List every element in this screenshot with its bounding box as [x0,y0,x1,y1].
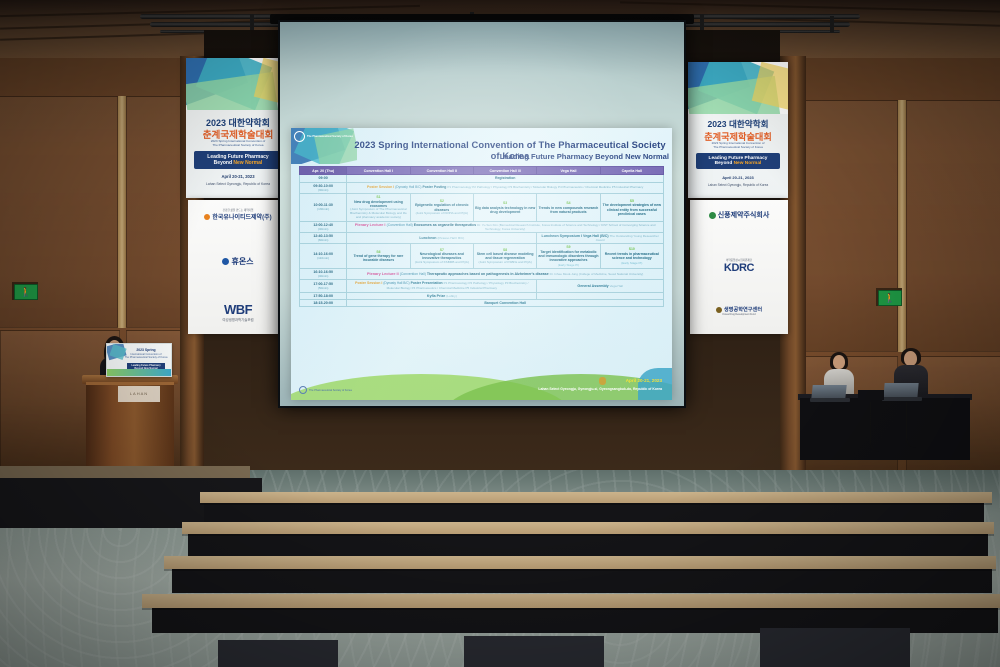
sponsor-item: 의약품임상시험지원재단 KDRC [690,258,788,274]
operator-head [833,355,845,369]
col-header-capella: Capella Hall [600,167,663,175]
row-content-general-assembly: General Assembly Vega Hall [537,280,664,293]
sponsor-item: 생명공학연구센터 Korea Drug Development Fund [690,306,788,316]
poster-hall: (Dynasty Hall B/C) [395,185,421,189]
session-cell: S10 Recent trends in pharmaceutical scie… [600,244,663,269]
table-header-row: Apr. 20 (Thu) Convention Hall I Conventi… [300,167,664,175]
row-content-luncheon-symposium: Luncheon Symposium I Vega Hall (B/C) The… [537,232,664,243]
running-man-icon: 🚶 [20,288,31,297]
society-logo-text: The Pharmaceutical Society of Korea [309,389,352,392]
luncheon-title: Luncheon [419,236,436,240]
session-tag: S5 [602,199,662,203]
session-tag: S9 [538,245,598,249]
col-header-hall-1: Convention Hall I [347,167,410,175]
riser-tier-3 [164,556,996,569]
poster-posting-label: Poster Posting [422,185,446,189]
session-title: Trends in new compounds research from na… [538,206,598,214]
sponsor-tagline: 여성생명과학기술포럼 [188,317,288,322]
banner-graphic-header [186,58,290,110]
plenary-head: Plenary Lecture I (Convention Hall) [355,223,413,227]
row-content-banquet: Banquet Convention Hall [347,300,664,307]
wall-panel [126,96,182,328]
time-value: 09:00 [301,176,345,180]
podium-plate-text: LAHAN [118,391,160,396]
society-logo-text: The Pharmaceutical Society of Korea [307,135,353,138]
laptop-screen [811,385,846,399]
time-duration: (60min) [301,238,345,242]
sponsor-item: WBF 여성생명과학기술포럼 [188,302,288,322]
col-header-hall-3: Convention Hall III [473,167,536,175]
session-cell: S9 Target identification for metabolic a… [537,244,600,269]
sponsor-name: 한국유나이티드제약(주) [188,212,288,221]
session-tag: S8 [475,248,535,252]
row-content-prize: Kyfla Prize (Lobby) [347,292,537,299]
riser-tier-1 [200,492,992,503]
sponsor-item: 건강한 삶을 만드는 제약기업 한국유나이티드제약(주) [188,208,288,221]
session-title: Target identification for metabolic and … [538,250,598,262]
session-note: (Joint Symposium of The Pharmaceutical B… [348,208,408,219]
riser-structure [188,532,988,556]
session-cell: S6 Trend of gene therapy for rare incura… [347,244,410,269]
row-content-luncheon: Luncheon (Picasso Hall I B/C) [347,232,537,243]
sponsor-name: KDRC [690,262,788,274]
slide-society-logo: The Pharmaceutical Society of Korea [294,131,353,142]
cable [870,402,889,452]
session-tag: S1 [348,195,408,199]
banner-place: Lahan Select Gyeongju, Republic of Korea [688,183,788,187]
row-content-plenary-2: Plenary Lecture II (Convention Hall) The… [347,268,664,279]
exit-sign-left: 🚶 [14,284,38,300]
session-stage-note: (Early Stage PI) [602,261,662,265]
banner-date: April 20-21, 2023 [688,175,788,180]
time-duration: (30min) [301,188,345,192]
society-emblem-icon [299,386,307,394]
operator-head [904,351,917,366]
poster-hall: (Dynasty Hall B/C) [383,281,409,285]
banner-tagline: Leading Future Pharmacy Beyond New Norma… [194,151,281,169]
session-cell: S8 Stem cell based disease modeling and … [473,244,536,269]
riser-tier-2 [182,522,994,534]
row-time: 17:50-18:00 [300,292,347,299]
sponsor-name: WBF [188,302,288,317]
row-time: 10:00-11:30 (130min) [300,194,347,222]
session-note: (Joint Symposium of KSBMB and PQA) [412,261,472,265]
banner-tagline: Leading Future Pharmacy Beyond New Norma… [696,153,780,169]
tagline-pre: Beyond [214,160,234,166]
session-tag: S3 [475,201,535,205]
row-time: 17:00-17:50 (50min) [300,280,347,293]
cable [906,402,921,448]
session-note: (Joint Symposium of KSBNs and PQA) [475,261,535,265]
sponsor-name: 생명공학연구센터 [690,306,788,313]
slide-footer-wave [291,366,672,400]
table-row: 10:00-11:30 (130min) S1 New drug develop… [300,194,664,222]
session-title: Big data analysis technology in new drug… [475,206,535,214]
plenary-title: Exosomes as organelle therapeutics [414,223,476,227]
plenary-hall: (Convention Hall) [387,223,413,227]
col-header-vega: Vega Hall [537,167,600,175]
monitor-screen [858,390,884,400]
wall-panel [906,100,1000,352]
podium-sign-line-2: International Convention ofThe Pharmaceu… [123,353,169,359]
program-schedule-table: Apr. 20 (Thu) Convention Hall I Conventi… [299,166,664,307]
tagline-line-2: Beyond New Normal [696,161,780,166]
banquet-label: Banquet Convention Hall [484,301,526,305]
table-row: 17:00-17:50 (50min) Poster Session I (Dy… [300,280,664,293]
sponsor-board-right: 신풍제약주식회사 의약품임상시험지원재단 KDRC 생명공학연구센터 Korea… [690,200,788,334]
session-note: (Joint Symposium of KRPIA and PQA) [412,212,472,216]
time-duration: (110min) [301,256,345,260]
podium-sign: 2023 Spring International Convention ofT… [106,343,172,377]
row-time: 18:15-20:00 [300,300,347,307]
session-tag: S10 [602,247,662,251]
general-assembly-title: General Assembly [577,284,608,288]
sponsor-mark-icon [222,258,229,265]
session-tag: S6 [348,250,408,254]
sponsor-mark-icon [716,307,722,313]
row-time: 09:00 [300,175,347,182]
row-time: 12:00-12:40 (40min) [300,221,347,232]
row-time: 09:30-10:00 (30min) [300,182,347,193]
podium-nameplate: LAHAN [118,386,160,402]
prize-location: (Lobby) [446,294,457,298]
banner-graphic-header [688,62,788,114]
table-row: 17:50-18:00 Kyfla Prize (Lobby) [300,292,664,299]
session-cell: S7 Neurological diseases and innovative … [410,244,473,269]
truss-upright [830,16,834,32]
sponsor-tagline: Korea Drug Development Fund [690,313,788,316]
session-tag: S7 [412,248,472,252]
session-cell: S4 Trends in new compounds research from… [537,194,600,222]
row-content-registration: Registration [347,175,664,182]
table-row: 09:30-10:00 (30min) Poster Session I (Dy… [300,182,664,193]
time-value: 17:50-18:00 [301,294,345,298]
table-row: 12:40-13:50 (60min) Luncheon (Picasso Ha… [300,232,664,243]
time-duration: (130min) [301,207,345,211]
slide-emblem-icon [599,377,606,385]
poster-category-list: P4 Pharmaceutics / Chemical Medicine P5 … [412,286,497,290]
conference-hall-photo: 🚶 🚶 2023 대한약학회 춘계국제학술대회 2023 Spring Inte… [0,0,1000,667]
riser-structure [172,567,992,593]
tagline-highlight: New Normal [233,160,262,166]
table-row: 14:10-16:00 (110min) S6 Trend of gene th… [300,244,664,269]
tagline-line-2: Beyond New Normal [194,160,281,166]
slide-footer-venue: Lahan Select Gyeongju, Gyeongju-si, Gyeo… [538,387,662,391]
laptop-screen [883,383,918,398]
plenary-speaker: Dr. Yu-Sun Kim (Biomedical Research Inst… [477,223,655,231]
banner-english-line2: The Pharmaceutical Society of Korea [186,143,290,147]
foreground-seat-block [464,636,604,667]
row-content-plenary-1: Plenary Lecture I (Convention Hall) Exos… [347,221,664,232]
poster-session-head: Poster Session I (Dynasty Hall B/C) [355,281,409,285]
foreground-seat-block [760,628,910,667]
slide-program-schedule: The Pharmaceutical Society of Korea 2023… [291,128,672,400]
sponsor-board-left: 건강한 삶을 만드는 제약기업 한국유나이티드제약(주) 휴온스 WBF 여성생… [188,200,288,334]
session-cell: S1 New drug development using exosomes (… [347,194,410,222]
sponsor-name: 휴온스 [188,256,288,267]
banner-date: April 20-21, 2023 [186,174,290,179]
poster-presentation-label: Poster Presentation [411,281,443,285]
running-man-icon: 🚶 [884,294,895,303]
plenary-head: Plenary Lecture II (Convention Hall) [367,272,426,276]
plenary-speaker: Dr. Inhee Mook-Jung (College of Medicine… [550,272,644,276]
session-stage-note: (Early Stage PI) [538,263,598,267]
general-assembly-hall: Vega Hall [610,284,623,288]
session-title: Trend of gene therapy for rare incurable… [348,254,408,262]
banner-place: Lahan Select Gyeongju, Republic of Korea [186,182,290,186]
banner-english-line2: The Pharmaceutical Society of Korea [688,145,788,149]
society-emblem-icon [294,131,305,142]
sponsor-name: 신풍제약주식회사 [690,210,788,220]
laptop-base [810,398,850,402]
wall-panel [800,100,898,352]
session-cell: S2 Epigenetic regulation of chronic dise… [410,194,473,222]
banner-left: 2023 대한약학회 춘계국제학술대회 2023 Spring Internat… [186,58,290,198]
slide-footer-date: April 20-21, 2023 [626,378,662,383]
poster-session-head: Poster Session I (Dynasty Hall B/C) [367,185,421,189]
row-time: 16:10-16:50 (40min) [300,268,347,279]
tagline-pre: Beyond [715,161,734,166]
row-content-empty [537,292,664,299]
sponsor-item: 신풍제약주식회사 [690,210,788,220]
riser-structure [204,500,984,522]
session-cell: S3 Big data analysis technology in new d… [473,194,536,222]
wall-trim [118,96,126,328]
session-title: Recent trends in pharmaceutical science … [602,252,662,260]
col-header-date: Apr. 20 (Thu) [300,167,347,175]
exit-sign-right: 🚶 [878,290,902,306]
session-tag: S4 [538,201,598,205]
plenary-hall: (Convention Hall) [400,272,426,276]
banner-right: 2023 대한약학회 춘계국제학술대회 2023 Spring Internat… [688,62,788,198]
row-content-poster-presentation: Poster Session I (Dynasty Hall B/C) Post… [347,280,537,293]
row-time: 14:10-16:00 (110min) [300,244,347,269]
row-time: 12:40-13:50 (60min) [300,232,347,243]
plenary-title: Therapeutic approaches based on pathogen… [427,272,549,276]
slide-footer-logo: The Pharmaceutical Society of Korea [299,386,352,394]
session-title: The development strategies of new clinic… [602,203,662,215]
sponsor-mark-icon [204,214,210,220]
table-row: 09:00 Registration [300,175,664,182]
session-tag: S2 [412,199,472,203]
sponsor-mark-icon [709,212,716,219]
sponsor-item: 휴온스 [188,256,288,267]
time-duration: (50min) [301,286,345,290]
time-duration: (40min) [301,274,345,278]
podium-sign-line-1: 2023 Spring [123,348,169,352]
time-value: 18:15-20:00 [301,301,345,305]
time-duration: (40min) [301,227,345,231]
row-content-poster-posting: Poster Session I (Dynasty Hall B/C) Post… [347,182,664,193]
table-row: 18:15-20:00 Banquet Convention Hall [300,300,664,307]
foreground-seat-block [218,640,338,667]
prize-title: Kyfla Prize [427,294,445,298]
table-row: 16:10-16:50 (40min) Plenary Lecture II (… [300,268,664,279]
luncheon-hall: (Picasso Hall I B/C) [437,236,464,240]
laptop-base [882,397,922,401]
wall-trim [898,100,906,352]
slide-subtitle: Leading Future Pharmacy Beyond New Norma… [351,152,672,161]
poster-category-list: P1 Pharmacology P2 Pathology / Physiolog… [447,185,643,189]
table-row: 12:00-12:40 (40min) Plenary Lecture I (C… [300,221,664,232]
session-cell: S5 The development strategies of new cli… [600,194,663,222]
col-header-hall-2: Convention Hall II [410,167,473,175]
tagline-highlight: New Normal [734,161,762,166]
riser-tier-4 [142,594,1000,608]
registration-label: Registration [348,176,662,180]
